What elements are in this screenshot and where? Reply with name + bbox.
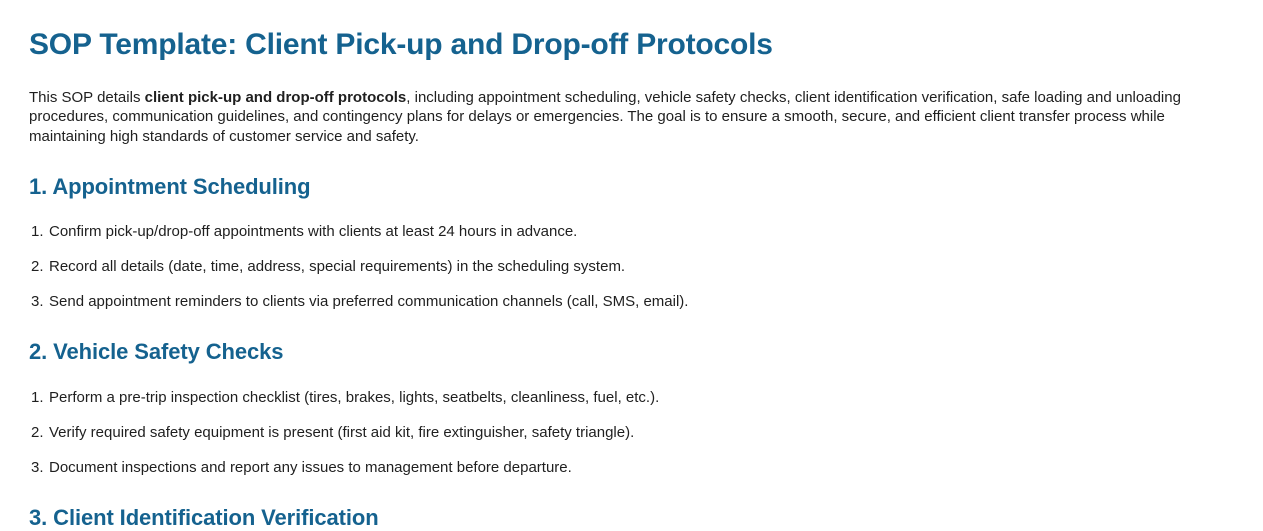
section-heading: 3. Client Identification Verification [29,477,1234,531]
step-number: 2. [31,423,49,442]
list-item: 2. Verify required safety equipment is p… [29,423,1234,442]
step-text: Confirm pick-up/drop-off appointments wi… [49,222,1234,241]
step-text: Verify required safety equipment is pres… [49,423,1234,442]
list-item: 2. Record all details (date, time, addre… [29,257,1234,276]
step-number: 3. [31,458,49,477]
step-text: Perform a pre-trip inspection checklist … [49,388,1234,407]
list-item: 1. Perform a pre-trip inspection checkli… [29,388,1234,407]
step-list: 1. Perform a pre-trip inspection checkli… [29,388,1234,477]
document-page: SOP Template: Client Pick-up and Drop-of… [0,0,1263,531]
step-text: Record all details (date, time, address,… [49,257,1234,276]
section-appointment-scheduling: 1. Appointment Scheduling 1. Confirm pic… [29,146,1234,311]
intro-paragraph: This SOP details client pick-up and drop… [29,62,1219,147]
step-number: 3. [31,292,49,311]
step-number: 1. [31,388,49,407]
step-number: 1. [31,222,49,241]
list-item: 3. Document inspections and report any i… [29,458,1234,477]
section-client-identification-verification: 3. Client Identification Verification [29,477,1234,531]
intro-emphasis-text: client pick-up and drop-off protocols [145,89,407,106]
section-vehicle-safety-checks: 2. Vehicle Safety Checks 1. Perform a pr… [29,311,1234,476]
step-number: 2. [31,257,49,276]
section-heading: 2. Vehicle Safety Checks [29,311,1234,365]
step-list: 1. Confirm pick-up/drop-off appointments… [29,222,1234,311]
intro-lead-text: This SOP details [29,89,145,106]
list-item: 3. Send appointment reminders to clients… [29,292,1234,311]
step-text: Document inspections and report any issu… [49,458,1234,477]
list-item: 1. Confirm pick-up/drop-off appointments… [29,222,1234,241]
section-heading: 1. Appointment Scheduling [29,146,1234,200]
page-title: SOP Template: Client Pick-up and Drop-of… [29,0,1234,62]
step-text: Send appointment reminders to clients vi… [49,292,1234,311]
